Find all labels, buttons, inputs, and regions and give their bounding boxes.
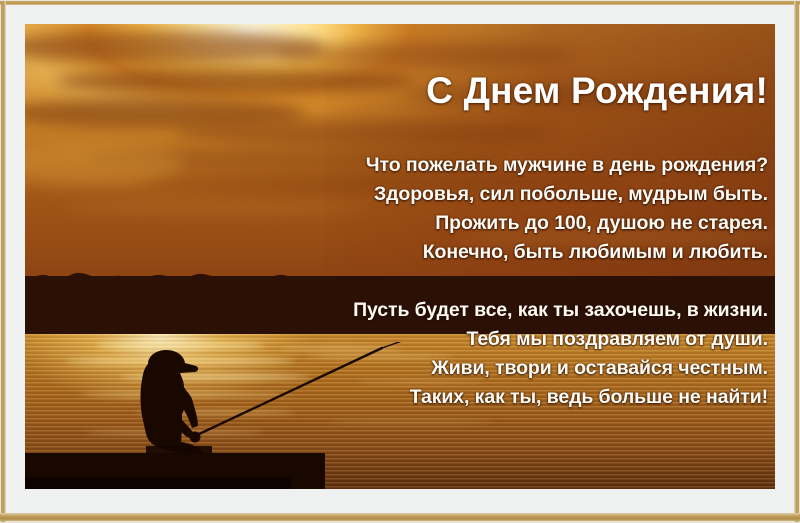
poem-line: Здоровья, сил побольше, мудрым быть. <box>208 180 768 209</box>
wooden-dock <box>25 453 325 489</box>
poem-line: Тебя мы поздравляем от души. <box>208 325 768 354</box>
cloud-band <box>175 120 555 146</box>
poem-line: Пусть будет все, как ты захочешь, в жизн… <box>208 296 768 325</box>
sunset-lake-photo: С Днем Рождения! Что пожелать мужчине в … <box>25 24 775 489</box>
poem-stanza-1: Что пожелать мужчине в день рождения? Зд… <box>208 151 768 267</box>
poem-line: Таких, как ты, ведь больше не найти! <box>208 383 768 412</box>
cloud-band <box>275 42 575 68</box>
frame-gold-trim-bottom <box>0 513 800 521</box>
poem-stanza-2: Пусть будет все, как ты захочешь, в жизн… <box>208 296 768 412</box>
poem-text: Что пожелать мужчине в день рождения? Зд… <box>208 151 768 412</box>
greeting-card-frame: С Днем Рождения! Что пожелать мужчине в … <box>0 0 800 523</box>
cloud-band <box>55 68 415 94</box>
poem-line: Конечно, быть любимым и любить. <box>208 238 768 267</box>
card-title: С Днем Рождения! <box>426 70 768 112</box>
poem-line: Прожить до 100, душою не старея. <box>208 209 768 238</box>
poem-line: Живи, твори и оставайся честным. <box>208 354 768 383</box>
frame-gold-trim-right <box>794 1 799 522</box>
poem-line: Что пожелать мужчине в день рождения? <box>208 151 768 180</box>
